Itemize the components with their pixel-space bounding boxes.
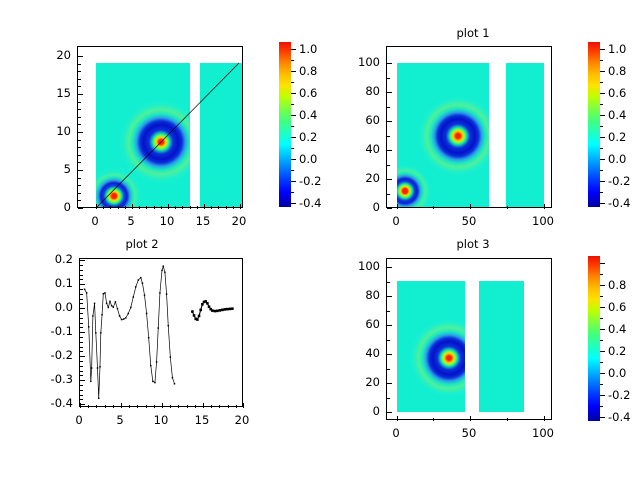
plotarea-top-right	[387, 47, 551, 207]
xtick-minor	[433, 418, 434, 421]
data-point-marker	[231, 307, 234, 310]
cbar-label: 0.6	[608, 86, 626, 100]
heatmap-peak-large	[419, 97, 489, 175]
ytick-minor	[387, 311, 390, 312]
ytick-minor	[387, 165, 390, 166]
xtick-major	[132, 204, 133, 209]
ytick-minor	[80, 395, 83, 396]
ytick-minor	[78, 200, 81, 201]
cbtick-minor	[291, 170, 294, 171]
xtick-minor	[195, 405, 196, 408]
data-point-marker	[123, 318, 125, 320]
panel-bottom-right-title: plot 3	[456, 237, 489, 251]
ytick-minor	[80, 385, 83, 386]
ytick-label: 40	[348, 346, 380, 360]
data-point-marker	[211, 309, 214, 312]
cbar-label: 0.8	[608, 64, 626, 78]
xtick-minor	[139, 206, 140, 209]
data-point-marker	[148, 337, 150, 339]
ytick-minor	[80, 294, 83, 295]
data-point-marker	[84, 289, 86, 291]
cbar-label: 0.0	[299, 152, 317, 166]
data-point-marker	[115, 301, 117, 303]
data-point-marker	[158, 327, 160, 329]
xtick-major	[397, 416, 398, 421]
cbtick	[600, 395, 605, 396]
data-point-marker	[140, 277, 142, 279]
xtick-minor	[219, 405, 220, 408]
xtick-major	[397, 204, 398, 209]
xtick-label: 0	[75, 413, 82, 427]
xtick-label: 0	[392, 214, 399, 228]
data-point-marker	[86, 292, 88, 294]
colorbar-top-left	[279, 42, 291, 207]
line-path	[85, 266, 175, 398]
data-point-marker	[172, 377, 174, 379]
data-point-marker	[91, 367, 93, 369]
ytick-label: 80	[348, 84, 380, 98]
xtick-minor	[129, 405, 130, 408]
cbar-label: 0.4	[608, 108, 626, 122]
data-point-marker	[98, 398, 100, 400]
ytick-label: 40	[348, 142, 380, 156]
cbtick	[600, 49, 605, 50]
ytick-minor	[78, 86, 81, 87]
xtick-minor	[433, 206, 434, 209]
panel-top-left: 0 5 10 15 20 0 5 10 15 20 1.0 0.8 0.6 0.…	[0, 0, 320, 240]
ytick-major	[387, 267, 392, 268]
ytick-major	[80, 308, 85, 309]
ytick-major	[80, 284, 85, 285]
cbtick-minor	[600, 340, 603, 341]
cbtick	[600, 181, 605, 182]
ytick-minor	[78, 185, 81, 186]
xtick-minor	[96, 405, 97, 408]
cbtick-minor	[291, 104, 294, 105]
data-point-marker	[108, 307, 110, 309]
ytick-minor	[78, 147, 81, 148]
ytick-minor	[80, 318, 83, 319]
data-point-marker	[191, 310, 194, 313]
xtick-label: 20	[235, 413, 250, 427]
data-point-marker	[101, 314, 103, 316]
panel-bottom-left-title: plot 2	[125, 237, 158, 251]
data-point-marker	[128, 313, 130, 315]
cbar-label: 0.8	[608, 278, 626, 292]
xtick-label: 50	[462, 426, 477, 440]
cbtick	[600, 71, 605, 72]
ytick-label: 100	[348, 55, 380, 69]
ytick-label: 100	[348, 259, 380, 273]
cbtick-minor	[600, 318, 603, 319]
ytick-minor	[80, 337, 83, 338]
cbtick	[291, 115, 296, 116]
axes-top-left	[77, 46, 243, 208]
xtick-minor	[236, 405, 237, 408]
cbtick	[291, 137, 296, 138]
xtick-minor	[218, 206, 219, 209]
data-point-marker	[106, 303, 108, 305]
xtick-label: 0	[91, 214, 98, 228]
ytick-major	[387, 150, 392, 151]
data-point-marker	[135, 286, 137, 288]
xtick-minor	[178, 405, 179, 408]
heatmap-peak-small	[397, 166, 430, 207]
data-point-marker	[113, 306, 115, 308]
data-point-marker	[150, 365, 152, 367]
cbtick-minor	[600, 148, 603, 149]
ytick-minor	[80, 289, 83, 290]
data-point-marker	[206, 302, 209, 305]
line-series-svg	[80, 259, 242, 406]
xtick-label: 50	[462, 214, 477, 228]
data-point-marker	[100, 332, 102, 334]
data-point-marker	[159, 292, 161, 294]
xtick-major	[470, 416, 471, 421]
data-point-marker	[146, 313, 148, 315]
data-point-marker	[167, 325, 169, 327]
data-point-marker	[103, 293, 105, 295]
ytick-major	[387, 296, 392, 297]
ytick-minor	[78, 79, 81, 80]
ytick-label: 0.0	[37, 300, 73, 314]
plotarea-bottom-right	[387, 259, 551, 419]
xtick-label: 5	[127, 214, 134, 228]
cbar-label: 0.2	[299, 130, 317, 144]
xtick-minor	[146, 405, 147, 408]
ytick-minor	[78, 193, 81, 194]
cbtick	[291, 181, 296, 182]
data-point-marker	[117, 308, 119, 310]
data-point-marker	[221, 309, 224, 312]
data-point-marker	[99, 366, 101, 368]
cbtick	[291, 159, 296, 160]
cbtick	[600, 203, 605, 204]
panel-bottom-left: plot 2	[0, 240, 320, 480]
cbtick-minor	[291, 126, 294, 127]
ytick-minor	[80, 303, 83, 304]
data-point-marker	[201, 303, 204, 306]
cbtick-minor	[600, 170, 603, 171]
data-point-marker	[130, 307, 132, 309]
ytick-minor	[78, 124, 81, 125]
ytick-minor	[80, 313, 83, 314]
ytick-minor	[78, 162, 81, 163]
data-point-marker	[133, 296, 135, 298]
xtick-minor	[507, 206, 508, 209]
ytick-label: 10	[39, 124, 71, 138]
ytick-label: 60	[348, 317, 380, 331]
cbtick-minor	[600, 362, 603, 363]
data-point-marker	[166, 293, 168, 295]
data-point-marker	[164, 272, 166, 274]
cbar-label: -0.4	[608, 410, 630, 424]
xtick-label: 20	[232, 214, 247, 228]
ytick-minor	[80, 366, 83, 367]
ytick-minor	[78, 102, 81, 103]
xtick-minor	[113, 405, 114, 408]
cbtick-minor	[600, 406, 603, 407]
xtick-major	[121, 403, 122, 408]
ytick-label: 20	[39, 48, 71, 62]
cbar-label: -0.2	[608, 174, 630, 188]
ytick-label: 20	[348, 171, 380, 185]
cbtick-minor	[291, 148, 294, 149]
cbtick	[600, 417, 605, 418]
ytick-label: 80	[348, 288, 380, 302]
xtick-minor	[175, 206, 176, 209]
data-point-marker	[152, 381, 154, 383]
panel-top-right-title: plot 1	[456, 26, 489, 40]
ytick-label: -0.3	[37, 372, 73, 386]
xtick-minor	[507, 418, 508, 421]
cbtick	[291, 49, 296, 50]
ytick-major	[80, 332, 85, 333]
cbtick-minor	[600, 126, 603, 127]
data-point-marker	[92, 315, 94, 317]
ytick-label: 15	[39, 86, 71, 100]
ytick-minor	[78, 64, 81, 65]
data-point-marker	[88, 326, 90, 328]
figure-canvas: 0 5 10 15 20 0 5 10 15 20 1.0 0.8 0.6 0.…	[0, 0, 640, 480]
axes-bottom-left	[79, 258, 243, 407]
cbar-label: 0.0	[608, 152, 626, 166]
cbtick	[600, 373, 605, 374]
panel-bottom-right: plot 3	[320, 240, 640, 480]
xtick-minor	[154, 206, 155, 209]
data-point-marker	[174, 383, 176, 385]
cbtick-minor	[291, 192, 294, 193]
cbtick	[600, 329, 605, 330]
data-point-marker	[208, 305, 211, 308]
cbtick-minor	[600, 104, 603, 105]
cbar-label: -0.4	[299, 196, 321, 210]
cbtick-minor	[291, 82, 294, 83]
data-point-marker	[193, 314, 196, 317]
ytick-minor	[387, 194, 390, 195]
ytick-minor	[80, 361, 83, 362]
ytick-minor	[80, 347, 83, 348]
cbar-label: 0.8	[299, 64, 317, 78]
ytick-minor	[387, 282, 390, 283]
cbtick-minor	[600, 82, 603, 83]
cbtick	[291, 93, 296, 94]
ytick-major	[387, 121, 392, 122]
cbtick-minor	[600, 296, 603, 297]
data-point-marker	[199, 309, 202, 312]
data-point-marker	[125, 317, 127, 319]
xtick-label: 5	[116, 413, 123, 427]
data-point-marker	[104, 292, 106, 294]
heatmap-patch-b	[479, 281, 524, 412]
ytick-major	[387, 179, 392, 180]
ytick-minor	[78, 109, 81, 110]
xtick-minor	[211, 405, 212, 408]
xtick-minor	[233, 206, 234, 209]
ytick-major	[387, 412, 392, 413]
ytick-minor	[80, 323, 83, 324]
data-point-marker	[97, 367, 99, 369]
ytick-label: 20	[348, 375, 380, 389]
ytick-label: 0	[348, 200, 380, 214]
axes-top-right	[386, 46, 552, 208]
cbar-label: 0.0	[608, 366, 626, 380]
data-point-marker	[90, 381, 92, 383]
ytick-major	[387, 383, 392, 384]
data-point-marker	[109, 301, 111, 303]
data-point-marker	[94, 303, 96, 305]
xtick-label: 100	[532, 214, 554, 228]
xtick-minor	[88, 405, 89, 408]
data-point-marker	[161, 270, 163, 272]
xtick-major	[96, 204, 97, 209]
cbtick-minor	[291, 60, 294, 61]
xtick-label: 15	[195, 413, 210, 427]
data-point-marker	[226, 308, 229, 311]
xtick-minor	[146, 206, 147, 209]
heatmap-patch-b	[506, 63, 544, 207]
data-point-marker	[214, 310, 217, 313]
ytick-minor	[80, 351, 83, 352]
cbtick	[600, 159, 605, 160]
ytick-minor	[80, 299, 83, 300]
ytick-minor	[387, 78, 390, 79]
xtick-minor	[226, 206, 227, 209]
data-point-marker	[95, 332, 97, 334]
ytick-major	[78, 208, 83, 209]
data-point-marker	[170, 356, 172, 358]
ytick-minor	[78, 71, 81, 72]
heatmap-patch-a	[397, 63, 489, 207]
xtick-major	[168, 204, 169, 209]
cbtick-minor	[600, 384, 603, 385]
data-point-marker	[142, 282, 144, 284]
ytick-major	[80, 380, 85, 381]
data-point-marker	[216, 310, 219, 313]
data-point-marker	[196, 318, 199, 321]
ytick-major	[80, 260, 85, 261]
data-point-marker	[156, 361, 158, 363]
ytick-minor	[80, 270, 83, 271]
xtick-major	[243, 403, 244, 408]
ytick-major	[387, 354, 392, 355]
ytick-label: 60	[348, 113, 380, 127]
ytick-minor	[387, 398, 390, 399]
ytick-minor	[387, 340, 390, 341]
cbtick-minor	[600, 274, 603, 275]
ytick-label: -0.1	[37, 324, 73, 338]
ytick-major	[80, 356, 85, 357]
ytick-label: 5	[39, 162, 71, 176]
xtick-minor	[161, 206, 162, 209]
cbar-label: 0.4	[299, 108, 317, 122]
cbar-label: 0.4	[608, 322, 626, 336]
cbar-label: 0.6	[608, 300, 626, 314]
ytick-minor	[387, 369, 390, 370]
data-point-marker	[119, 315, 121, 317]
cbar-label: -0.2	[608, 388, 630, 402]
ytick-major	[387, 208, 392, 209]
ytick-major	[78, 132, 83, 133]
ytick-label: 0	[39, 200, 71, 214]
ytick-label: 0	[348, 404, 380, 418]
xtick-label: 100	[532, 426, 554, 440]
ytick-major	[387, 92, 392, 93]
ytick-minor	[80, 265, 83, 266]
xtick-minor	[105, 405, 106, 408]
ytick-minor	[80, 279, 83, 280]
data-point-marker	[154, 382, 156, 384]
cbar-label: 1.0	[299, 42, 317, 56]
ytick-label: -0.2	[37, 348, 73, 362]
data-point-marker	[111, 305, 113, 307]
ytick-label: -0.4	[37, 396, 73, 410]
colorbar-top-right	[588, 42, 600, 207]
ytick-label: 0.2	[37, 252, 73, 266]
data-point-marker	[163, 266, 165, 268]
cbar-label: -0.4	[608, 196, 630, 210]
cbtick	[600, 263, 605, 264]
xtick-major	[162, 403, 163, 408]
ytick-minor	[387, 136, 390, 137]
cbtick-minor	[600, 60, 603, 61]
diagonal-line-overlay	[78, 47, 242, 207]
ytick-minor	[80, 342, 83, 343]
ytick-minor	[80, 390, 83, 391]
plotarea-bottom-left	[80, 259, 242, 406]
xtick-minor	[118, 206, 119, 209]
data-point-marker	[144, 295, 146, 297]
ytick-major	[387, 63, 392, 64]
cbtick-minor	[600, 192, 603, 193]
axes-bottom-right	[386, 258, 552, 420]
xtick-minor	[228, 405, 229, 408]
xtick-minor	[197, 206, 198, 209]
data-point-marker	[224, 308, 227, 311]
xtick-minor	[154, 405, 155, 408]
xtick-minor	[187, 405, 188, 408]
ytick-minor	[80, 371, 83, 372]
ytick-minor	[80, 327, 83, 328]
cbtick	[600, 285, 605, 286]
xtick-major	[204, 204, 205, 209]
xtick-minor	[190, 206, 191, 209]
ytick-minor	[387, 107, 390, 108]
data-point-marker	[121, 319, 123, 321]
xtick-minor	[125, 206, 126, 209]
xtick-major	[203, 403, 204, 408]
ytick-minor	[80, 375, 83, 376]
cbar-label: 0.2	[608, 344, 626, 358]
cbar-label: 0.2	[608, 130, 626, 144]
data-point-marker	[138, 279, 140, 281]
ytick-minor	[78, 155, 81, 156]
ytick-minor	[78, 140, 81, 141]
cbar-label: -0.2	[299, 174, 321, 188]
xtick-label: 10	[154, 413, 169, 427]
colorbar-bottom-right	[588, 256, 600, 421]
data-point-marker	[219, 309, 222, 312]
cbtick	[291, 71, 296, 72]
data-point-marker	[229, 308, 232, 311]
xtick-label: 10	[160, 214, 175, 228]
ytick-minor	[78, 178, 81, 179]
cbtick	[600, 93, 605, 94]
xtick-label: 0	[392, 426, 399, 440]
cbtick	[291, 203, 296, 204]
xtick-major	[240, 204, 241, 209]
data-point-marker	[198, 315, 201, 318]
